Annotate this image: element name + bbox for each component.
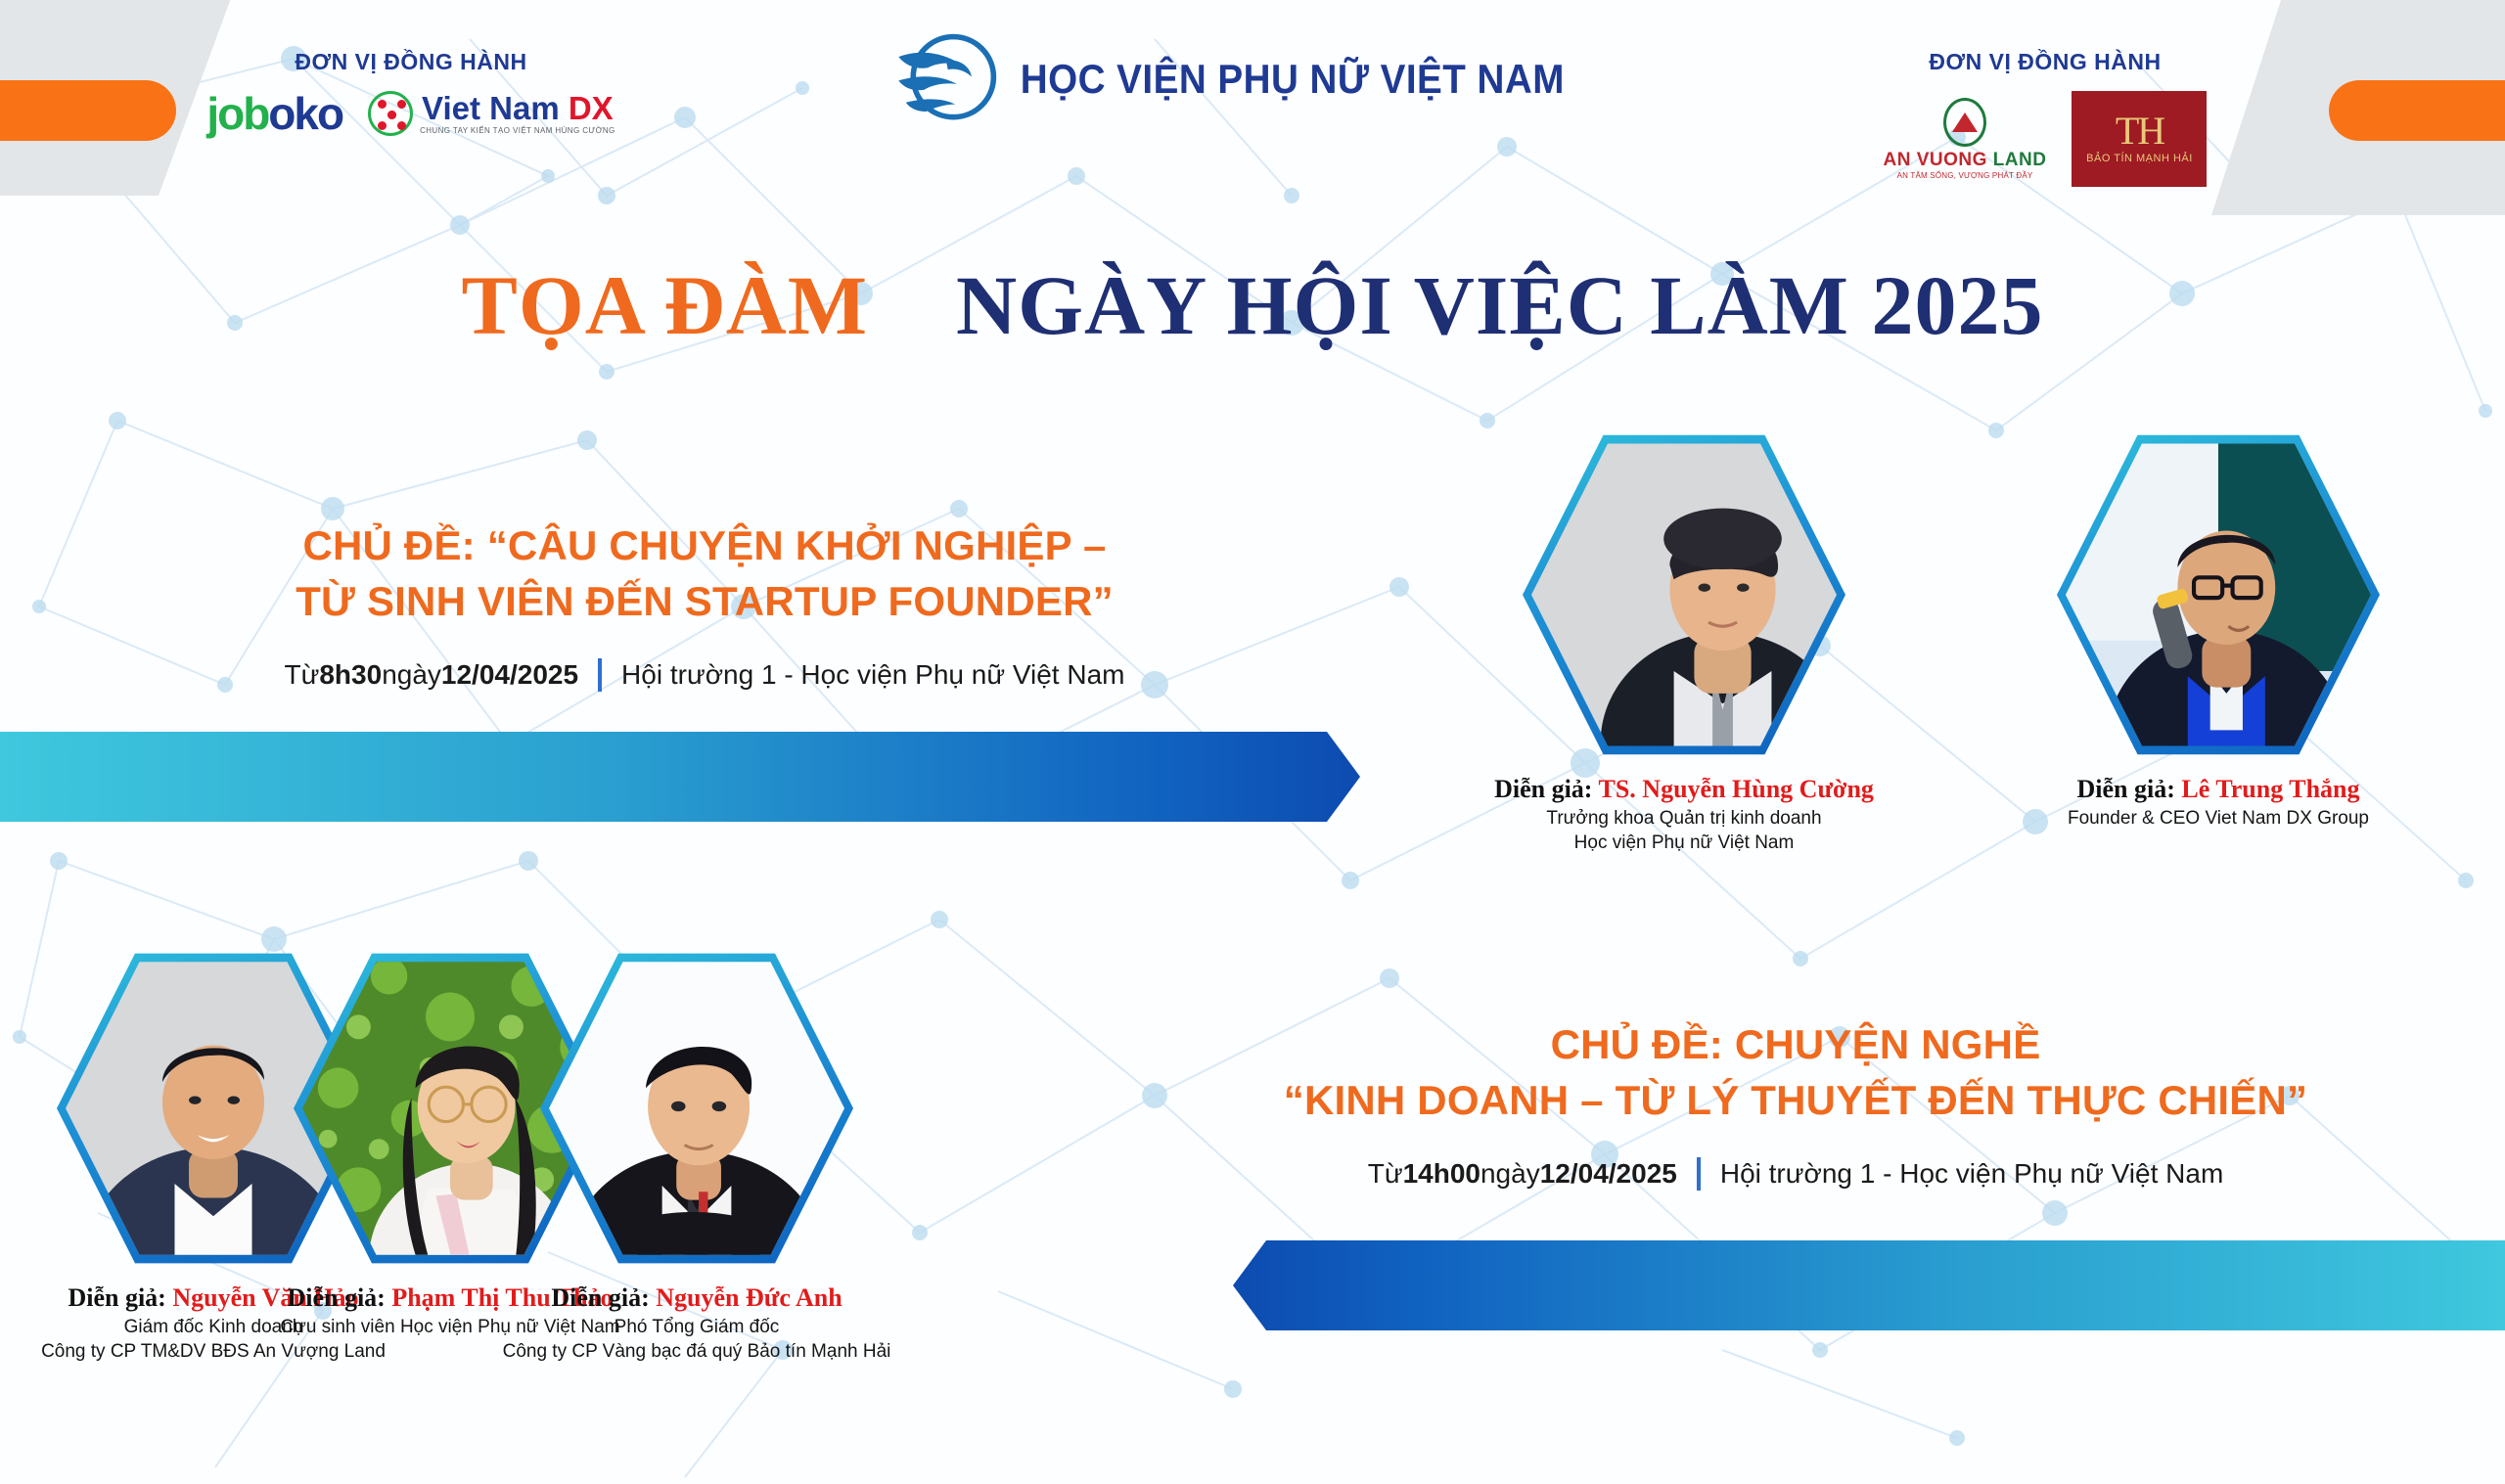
topic-morning-time-prefix: Từ — [285, 659, 320, 691]
an-vuong-land-logo: AN VUONG LAND AN TÂM SỐNG, VƯỢNG PHÁT ĐẦ… — [1884, 98, 2047, 180]
topic-morning-divider — [598, 658, 602, 692]
vietnamdx-logo: Viet Nam DX CHUNG TAY KIẾN TẠO VIỆT NAM … — [368, 91, 615, 136]
speaker-photo-frame — [540, 947, 853, 1270]
institution-brand: HỌC VIỆN PHỤ NỮ VIỆT NAM — [893, 27, 1613, 130]
speaker-name: Lê Trung Thắng — [2181, 775, 2359, 803]
speaker-name: TS. Nguyễn Hùng Cường — [1599, 775, 1874, 803]
sponsor-logos-left: joboko Viet Nam DX CHUNG TAY KIẾN TẠO VI… — [196, 91, 626, 136]
joboko-logo: joboko — [206, 91, 342, 136]
bao-tin-manh-hai-text: BẢO TÍN MẠNH HẢI — [2086, 153, 2193, 164]
topic-afternoon-venue: Hội trường 1 - Học viện Phụ nữ Việt Nam — [1720, 1158, 2223, 1190]
dove-wing-logo-icon — [893, 27, 1003, 130]
speaker-card-nguyen-hung-cuong: Diễn giả: TS. Nguyễn Hùng Cường Trưởng k… — [1523, 428, 1845, 855]
institution-name: HỌC VIỆN PHỤ NỮ VIỆT NAM — [1021, 56, 1565, 103]
poster-canvas: ĐƠN VỊ ĐỒNG HÀNH joboko Viet Nam DX CHUN… — [0, 0, 2505, 1484]
arrow-banner-top — [0, 732, 1360, 822]
topic-morning-time: 8h30 — [319, 659, 382, 691]
speaker-label: Diễn giả: — [551, 1283, 656, 1312]
topic-morning-date: 12/04/2025 — [441, 659, 578, 691]
poster-header: ĐƠN VỊ ĐỒNG HÀNH joboko Viet Nam DX CHUN… — [0, 0, 2505, 196]
speaker-photo-frame — [1523, 428, 1845, 761]
topic-afternoon-line1: CHỦ ĐỀ: CHUYỆN NGHỀ — [1160, 1017, 2432, 1073]
joboko-logo-text-a: job — [206, 88, 268, 139]
topic-morning-date-prefix: ngày — [382, 659, 441, 691]
poster-title-part-navy: NGÀY HỘI VIỆC LÀM 2025 — [956, 258, 2043, 352]
sponsor-heading-left: ĐƠN VỊ ĐỒNG HÀNH — [196, 49, 626, 75]
speaker-label: Diễn giả: — [1494, 775, 1598, 803]
bao-tin-manh-hai-mark-icon: TH — [2116, 113, 2163, 149]
speaker-role-line2: Học viện Phụ nữ Việt Nam — [1444, 831, 1924, 855]
speaker-photo-frame — [2057, 428, 2380, 761]
sponsor-block-right: ĐƠN VỊ ĐỒNG HÀNH AN VUONG LAND AN TÂM SỐ… — [1830, 49, 2260, 187]
an-vuong-land-text-b: LAND — [1993, 150, 2047, 170]
speaker-role-line1: Trưởng khoa Quản trị kinh doanh — [1444, 806, 1924, 831]
an-vuong-land-text-a: AN VUONG — [1884, 150, 1987, 170]
poster-title: TỌA ĐÀM NGÀY HỘI VIỆC LÀM 2025 — [0, 256, 2505, 354]
speaker-card-nguyen-duc-anh: Diễn giả: Nguyễn Đức Anh Phó Tổng Giám đ… — [540, 947, 853, 1364]
speaker-caption: Diễn giả: Nguyễn Đức Anh Phó Tổng Giám đ… — [481, 1282, 912, 1364]
arrow-banner-bottom — [1233, 1240, 2505, 1330]
topic-afternoon-time: 14h00 — [1403, 1158, 1480, 1190]
topic-afternoon-meta: Từ 14h00 ngày 12/04/2025 Hội trường 1 - … — [1160, 1157, 2432, 1191]
an-vuong-land-tagline: AN TÂM SỐNG, VƯỢNG PHÁT ĐẦY — [1884, 172, 2047, 180]
speaker-label: Diễn giả: — [2077, 775, 2182, 803]
topic-block-afternoon: CHỦ ĐỀ: CHUYỆN NGHỀ “KINH DOANH – TỪ LÝ … — [1160, 1017, 2432, 1191]
topic-afternoon-date: 12/04/2025 — [1540, 1158, 1677, 1190]
speaker-label: Diễn giả: — [287, 1283, 391, 1312]
sponsor-logos-right: AN VUONG LAND AN TÂM SỐNG, VƯỢNG PHÁT ĐẦ… — [1830, 91, 2260, 187]
topic-afternoon-time-prefix: Từ — [1368, 1158, 1403, 1190]
speaker-photo — [1531, 437, 1837, 752]
speaker-photo — [549, 956, 844, 1261]
topic-morning-venue: Hội trường 1 - Học viện Phụ nữ Việt Nam — [621, 659, 1124, 691]
vietnamdx-mark-icon — [368, 91, 413, 136]
speaker-role-line2: Công ty CP Vàng bạc đá quý Bảo tín Mạnh … — [481, 1339, 912, 1364]
bao-tin-manh-hai-logo: TH BẢO TÍN MẠNH HẢI — [2072, 91, 2207, 187]
topic-morning-meta: Từ 8h30 ngày 12/04/2025 Hội trường 1 - H… — [137, 658, 1272, 692]
speaker-caption: Diễn giả: Lê Trung Thắng Founder & CEO V… — [1988, 773, 2448, 831]
speaker-caption: Diễn giả: TS. Nguyễn Hùng Cường Trưởng k… — [1444, 773, 1924, 855]
poster-title-part-orange: TỌA ĐÀM — [462, 258, 869, 352]
an-vuong-land-mark-icon — [1943, 98, 1986, 147]
speaker-name: Nguyễn Đức Anh — [656, 1283, 842, 1312]
speaker-role-line2: Công ty CP TM&DV BĐS An Vượng Land — [0, 1339, 429, 1364]
sponsor-heading-right: ĐƠN VỊ ĐỒNG HÀNH — [1830, 49, 2260, 75]
topic-block-morning: CHỦ ĐỀ: “CÂU CHUYỆN KHỞI NGHIỆP – TỪ SIN… — [137, 518, 1272, 692]
vietnamdx-logo-tagline: CHUNG TAY KIẾN TẠO VIỆT NAM HÙNG CƯỜNG — [420, 127, 615, 135]
speaker-card-le-trung-thang: Diễn giả: Lê Trung Thắng Founder & CEO V… — [2057, 428, 2380, 831]
topic-morning-line2: TỪ SINH VIÊN ĐẾN STARTUP FOUNDER” — [137, 574, 1272, 630]
speaker-role-line1: Phó Tổng Giám đốc — [481, 1315, 912, 1339]
topic-afternoon-date-prefix: ngày — [1480, 1158, 1540, 1190]
vietnamdx-logo-text-a: Viet Nam — [422, 90, 560, 126]
speaker-role-line1: Founder & CEO Viet Nam DX Group — [1988, 806, 2448, 831]
topic-morning-line1: CHỦ ĐỀ: “CÂU CHUYỆN KHỞI NGHIỆP – — [137, 518, 1272, 574]
joboko-logo-text-b: oko — [268, 88, 342, 139]
topic-afternoon-line2: “KINH DOANH – TỪ LÝ THUYẾT ĐẾN THỰC CHIẾ… — [1160, 1073, 2432, 1129]
speaker-label: Diễn giả: — [68, 1283, 172, 1312]
topic-afternoon-divider — [1697, 1157, 1701, 1191]
speaker-photo — [2066, 437, 2371, 752]
sponsor-block-left: ĐƠN VỊ ĐỒNG HÀNH joboko Viet Nam DX CHUN… — [196, 49, 626, 136]
vietnamdx-logo-text-b: DX — [569, 90, 614, 126]
